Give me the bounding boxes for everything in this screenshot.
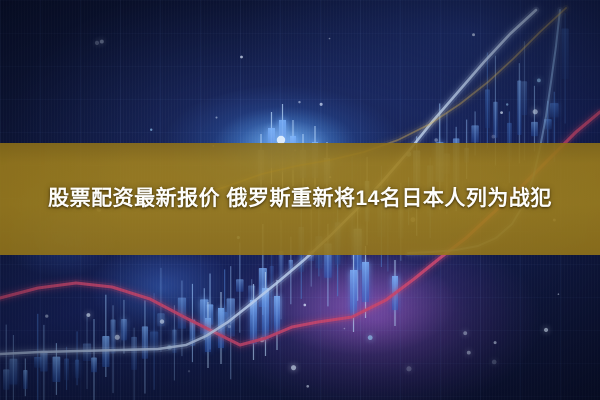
- headline-band: 股票配资最新报价 俄罗斯重新将14名日本人列为战犯: [0, 143, 600, 255]
- page-title: 股票配资最新报价 俄罗斯重新将14名日本人列为战犯: [22, 181, 578, 217]
- news-banner: 股票配资最新报价 俄罗斯重新将14名日本人列为战犯: [0, 0, 600, 400]
